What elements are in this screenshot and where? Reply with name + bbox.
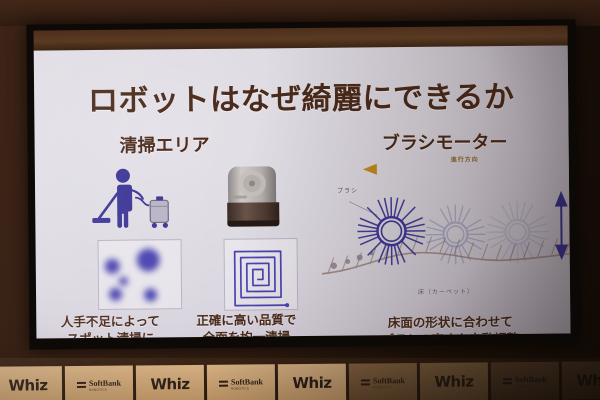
sponsor-banner: WhizSoftBankROBOTICSWhizSoftBankROBOTICS…: [0, 358, 600, 400]
whiz-logo-tile: Whiz: [562, 361, 600, 400]
softbank-logo-subtext: ROBOTICS: [373, 385, 405, 389]
softbank-logo-text-wrap: SoftBankROBOTICS: [231, 377, 263, 390]
direction-arrow-label: 進行方向: [451, 154, 479, 163]
caption-right: 床面の形状に合わせて ブラシの高さを自動調整: [336, 313, 564, 338]
softbank-logo-tile: SoftBankROBOTICS: [65, 365, 133, 400]
projection-screen-frame: ロボットはなぜ綺麗にできるか 清掃エリア ブラシモーター: [26, 19, 578, 349]
slide-title: ロボットはなぜ綺麗にできるか: [34, 71, 568, 120]
softbank-logo-tile: SoftBankROBOTICS: [491, 362, 559, 400]
softbank-bars-icon: [77, 382, 86, 388]
cleaning-path-map: [224, 238, 299, 311]
whiz-logo-text: Whiz: [150, 375, 189, 393]
sponsor-logo-strip: WhizSoftBankROBOTICSWhizSoftBankROBOTICS…: [0, 361, 600, 400]
softbank-logo-text-wrap: SoftBankROBOTICS: [515, 374, 547, 387]
softbank-logo-text-wrap: SoftBankROBOTICS: [89, 378, 121, 391]
caption-middle-line2: 全面を均一清掃: [166, 329, 326, 339]
softbank-logo-text: SoftBank: [515, 374, 547, 383]
whiz-logo-tile: Whiz: [420, 362, 488, 400]
softbank-logo: SoftBankROBOTICS: [77, 378, 121, 391]
softbank-logo: SoftBankROBOTICS: [361, 376, 405, 389]
person-vacuuming-icon: [90, 167, 179, 230]
caption-right-line2: ブラシの高さを自動調整: [336, 330, 564, 338]
whiz-logo-tile: Whiz: [278, 364, 346, 400]
caption-middle-line1: 正確に高い品質で: [166, 312, 326, 330]
section-heading-brush-motor: ブラシモーター: [334, 128, 554, 156]
photo-of-presentation-screen: ロボットはなぜ綺麗にできるか 清掃エリア ブラシモーター: [0, 0, 600, 400]
whiz-logo-text: Whiz: [292, 374, 331, 392]
whiz-logo-text: Whiz: [576, 371, 600, 389]
brush-motor-diagram: 進行方向 ブラシ 床（カーペット）: [321, 155, 571, 307]
softbank-logo-tile: SoftBankROBOTICS: [349, 363, 417, 400]
caption-middle: 正確に高い品質で 全面を均一清掃: [166, 312, 326, 339]
softbank-logo-text: SoftBank: [89, 378, 121, 387]
softbank-logo-subtext: ROBOTICS: [89, 387, 121, 391]
softbank-bars-icon: [219, 381, 228, 387]
whiz-logo-tile: Whiz: [0, 366, 62, 400]
whiz-logo-tile: Whiz: [136, 365, 204, 400]
floor-carpet-label: 床（カーペット）: [418, 286, 474, 296]
softbank-logo: SoftBankROBOTICS: [219, 377, 263, 390]
softbank-bars-icon: [361, 380, 370, 386]
whiz-logo-text: Whiz: [434, 373, 473, 391]
softbank-logo-subtext: ROBOTICS: [515, 383, 547, 387]
section-heading-cleaning-area: 清掃エリア: [74, 130, 254, 158]
softbank-logo: SoftBankROBOTICS: [503, 374, 547, 387]
softbank-logo-text: SoftBank: [231, 377, 263, 386]
softbank-logo-tile: SoftBankROBOTICS: [207, 364, 275, 400]
brush-label: ブラシ: [337, 185, 358, 194]
softbank-bars-icon: [503, 378, 512, 384]
softbank-logo-text: SoftBank: [373, 376, 405, 385]
softbank-logo-text-wrap: SoftBankROBOTICS: [373, 376, 405, 389]
spot-cleaning-map: [98, 239, 183, 310]
presentation-slide: ロボットはなぜ綺麗にできるか 清掃エリア ブラシモーター: [34, 45, 571, 338]
whiz-robot-photo: [221, 160, 288, 233]
softbank-logo-subtext: ROBOTICS: [231, 386, 263, 390]
whiz-logo-text: Whiz: [8, 376, 47, 394]
